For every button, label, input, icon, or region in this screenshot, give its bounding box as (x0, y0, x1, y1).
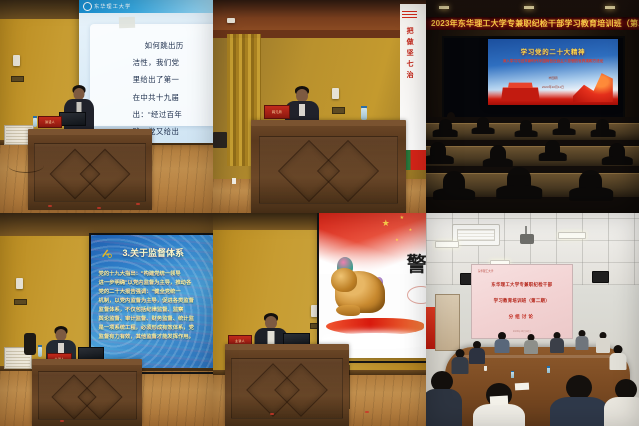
audience-area (426, 117, 639, 213)
slide-line-3: 里给出了第一 (133, 74, 180, 85)
speaker-nameplate-text: 韩元周 (265, 106, 289, 118)
attendee-body (575, 336, 588, 350)
projection-screen-slide: 东华理工大学 如何跳出历 洁性，我们党 里给出了第一 在中共十九届 出：“经过百… (79, 0, 213, 143)
slide-body-line: 监督有力有效，其他监督才能发挥作用。 (99, 335, 213, 341)
screen-line-3: 分组讨论 (472, 314, 572, 320)
collage-cell-auditorium-audience-led-screen[interactable]: 2023年东华理工大学专兼职纪检干部学习教育培训班（第二 学习党的二十大精神 深… (426, 0, 639, 213)
slide-body: 党的十九大指出：“构建党统一领导 进一步明确“以党内监督为主导，推动各 党的二十… (99, 272, 213, 344)
attendee-body (469, 348, 485, 364)
slide-body-line: 监督体系，不仅包括纪律监督、监察 (99, 308, 213, 314)
confetti (270, 413, 274, 415)
attendee-silhouette (477, 117, 489, 129)
meeting-room: 东华理工大学 东华理工大学专兼职纪检干部 学习教育培训班（第二期） 分组讨论 2… (426, 213, 639, 426)
speaker-shirt (268, 331, 275, 344)
slide-header-band: 东华理工大学 (79, 0, 213, 13)
attendee-body (604, 397, 639, 426)
lion-head (331, 268, 357, 292)
water-bottle (33, 118, 37, 127)
laptop (59, 112, 86, 126)
screen-tag: 东华理工大学 (478, 269, 494, 273)
podium (225, 346, 349, 426)
red-swoosh (326, 318, 425, 335)
paper-cup (232, 178, 236, 184)
wall-camera-icon (16, 278, 23, 289)
slide-big-character: 警 (407, 248, 426, 277)
slide-presenter: 毕国明 (488, 76, 618, 81)
attendee-body (426, 389, 462, 426)
attendee (575, 330, 588, 349)
podium-panel (34, 143, 146, 202)
podium-diamond-right (317, 140, 379, 202)
floor-cable (349, 365, 364, 409)
ceiling-light (439, 6, 449, 9)
flag-star-icon: ★ (382, 219, 390, 228)
attendee-silhouette (545, 140, 560, 155)
attendee-foreground (604, 379, 639, 426)
projection-screen: 东华理工大学 东华理工大学专兼职纪检干部 学习教育培训班（第二期） 分组讨论 2… (471, 264, 573, 338)
slide-line-1: 如何跳出历 (145, 40, 184, 51)
slide-line-5: 出：“经过百年 (133, 109, 183, 120)
podium-panel (259, 136, 399, 205)
guardian-lion-icon (335, 271, 385, 313)
slide-line-2: 洁性，我们党 (133, 57, 180, 68)
slide-title: 3.关于监督体系 (123, 246, 185, 259)
speaker-person (62, 85, 96, 135)
confetti (48, 205, 52, 207)
podium-panel (231, 358, 343, 419)
speaker-shirt (58, 343, 64, 353)
attendee-silhouette (579, 170, 602, 192)
panel-stripes (402, 11, 418, 19)
podium-top (251, 120, 406, 126)
water-bottle (361, 108, 367, 120)
water-bottle (38, 347, 42, 357)
attendee-foreground (426, 371, 462, 426)
ceiling (213, 0, 426, 30)
attendee-silhouette (439, 119, 452, 132)
attendee-foreground (550, 375, 608, 426)
photo-collage: 东华理工大学 如何跳出历 洁性，我们党 里给出了第一 在中共十九届 出：“经过百… (0, 0, 639, 426)
water-bottle (511, 371, 514, 378)
confetti (136, 203, 140, 205)
lion-paw (336, 305, 360, 316)
attendee-body (550, 338, 564, 353)
attendee-silhouette (520, 120, 532, 132)
collage-cell-meeting-room-group-discussion[interactable]: 东华理工大学 东华理工大学专兼职纪检干部 学习教育培训班（第二期） 分组讨论 2… (426, 213, 639, 426)
led-screen-slide: 学习党的二十大精神 深入学习习近平新时代中国特色社会主义思想的世界观和方法论 毕… (488, 39, 618, 105)
attendee (524, 334, 538, 353)
tiananmen-icon (498, 79, 542, 101)
screen-line-1: 东华理工大学专兼职纪检干部 (472, 282, 572, 288)
slide-body-line: 是一项系统工程，必须形成有效体系，党 (99, 326, 213, 332)
ceiling-light (605, 6, 615, 9)
university-seal-icon (83, 2, 92, 11)
podium (32, 361, 142, 426)
speaker-nameplate-text: 讲话人 (39, 117, 61, 127)
attendee-body (473, 404, 525, 426)
collage-cell-lecture-hall-speaker-wide[interactable]: 东华理工大学 如何跳出历 洁性，我们党 里给出了第一 在中共十九届 出：“经过百… (0, 0, 213, 213)
paper-cup (484, 366, 487, 371)
led-screen-slide: ★ ★ ★ ★ 警 (319, 213, 426, 358)
attendee (494, 332, 509, 352)
attendee-silhouette (558, 118, 570, 130)
led-banner: 2023年东华理工大学专兼职纪检干部学习教育培训班（第二 (426, 17, 639, 30)
slide-body-line: 机制，以党内监督为主导，促进各类监督 (99, 299, 213, 305)
attendee-body (524, 340, 538, 354)
attendee-silhouette (490, 145, 506, 161)
podium (251, 122, 406, 213)
attendee-silhouette (596, 119, 609, 132)
attendee-silhouette (609, 143, 625, 159)
confetti (60, 420, 64, 422)
paper-document (490, 396, 508, 406)
wall-speaker (592, 271, 609, 283)
room-door[interactable] (435, 294, 460, 351)
ceiling-light (558, 232, 586, 239)
podium-panel (38, 371, 137, 419)
podium-top (28, 129, 152, 135)
cpc-party-emblem-icon (100, 246, 113, 257)
wall-plate (11, 76, 24, 82)
slide-line-4: 在中共十九届 (133, 92, 180, 103)
wall-camera-icon (332, 88, 339, 99)
screen-line-2: 学习教育培训班（第二期） (472, 298, 572, 304)
decor-ring (407, 286, 426, 304)
red-flag (426, 307, 435, 350)
confetti (97, 207, 101, 209)
podium-diamond-right (274, 363, 328, 417)
flag-star-icon: ★ (409, 228, 413, 232)
led-screen-slide: 3.关于监督体系 党的十九大指出：“构建党统一领导 进一步明确“以党内监督为主导… (91, 235, 213, 368)
attendee (550, 332, 564, 352)
wall-camera-icon (13, 55, 20, 66)
ceiling-light (435, 241, 459, 248)
speaker-shirt (299, 104, 305, 116)
podium (28, 131, 152, 210)
collage-cell-lecture-hall-speaker-podium[interactable]: 把 做 坚 七 治 韩元周 (213, 0, 426, 213)
slide-title: 学习党的二十大精神 (488, 47, 618, 56)
floor-speaker-box (213, 132, 227, 148)
paper-document (515, 383, 529, 391)
ceiling-light (227, 18, 235, 23)
flag-star-icon: ★ (400, 216, 404, 221)
attendee-silhouette (507, 167, 531, 190)
attendee (469, 341, 485, 363)
slide-body-line: 党的二十大报告强调：“健全党统一 (99, 290, 213, 296)
slide-university-name: 东华理工大学 (94, 3, 131, 10)
wall-plate (14, 299, 27, 305)
attendee-body (609, 353, 626, 370)
speaker-nameplate: 讲话人 (38, 116, 62, 128)
side-panel-text: 把 做 坚 七 治 (404, 27, 415, 79)
flag-star-icon: ★ (395, 238, 399, 242)
collage-cell-lecture-hall-supervision-slide[interactable]: 3.关于监督体系 党的十九大指出：“构建党统一领导 进一步明确“以党内监督为主导… (0, 213, 213, 426)
attendee-silhouette (443, 171, 465, 192)
attendee (609, 345, 626, 369)
speaker-nameplate: 韩元周 (264, 105, 290, 119)
floor-cable (8, 158, 44, 173)
ceiling-projector (520, 234, 534, 244)
attendee-body (494, 339, 509, 353)
podium-diamond-right (77, 374, 122, 419)
podium-top (225, 344, 349, 350)
slide-body-line: 进一步明确“以党内监督为主导，推动各 (99, 281, 213, 287)
collage-cell-lecture-hall-warning-slide[interactable]: ★ ★ ★ ★ 警 主讲人 (213, 213, 426, 426)
slide-subtitle: 深入学习习近平新时代中国特色社会主义思想的世界观和方法论 (496, 59, 610, 64)
wall-plate (332, 107, 345, 114)
confetti (365, 411, 369, 413)
led-banner-text: 2023年东华理工大学专兼职纪检干部学习教育培训班（第二 (426, 18, 639, 29)
attendee-body (550, 397, 608, 426)
air-conditioner-vent (452, 224, 500, 246)
podium-top (32, 359, 142, 365)
slide-body-line: 舆论监督、审计监督、财务监督、统计监 (99, 317, 213, 323)
slide-body-line: 党的十九大指出：“构建党统一领导 (99, 272, 213, 278)
attendee-silhouette (430, 142, 446, 158)
slide-tape-mark (119, 17, 135, 29)
chair (24, 333, 36, 355)
ceiling-light (524, 6, 534, 9)
podium-diamond-right (79, 148, 130, 199)
water-bottle (547, 366, 550, 373)
